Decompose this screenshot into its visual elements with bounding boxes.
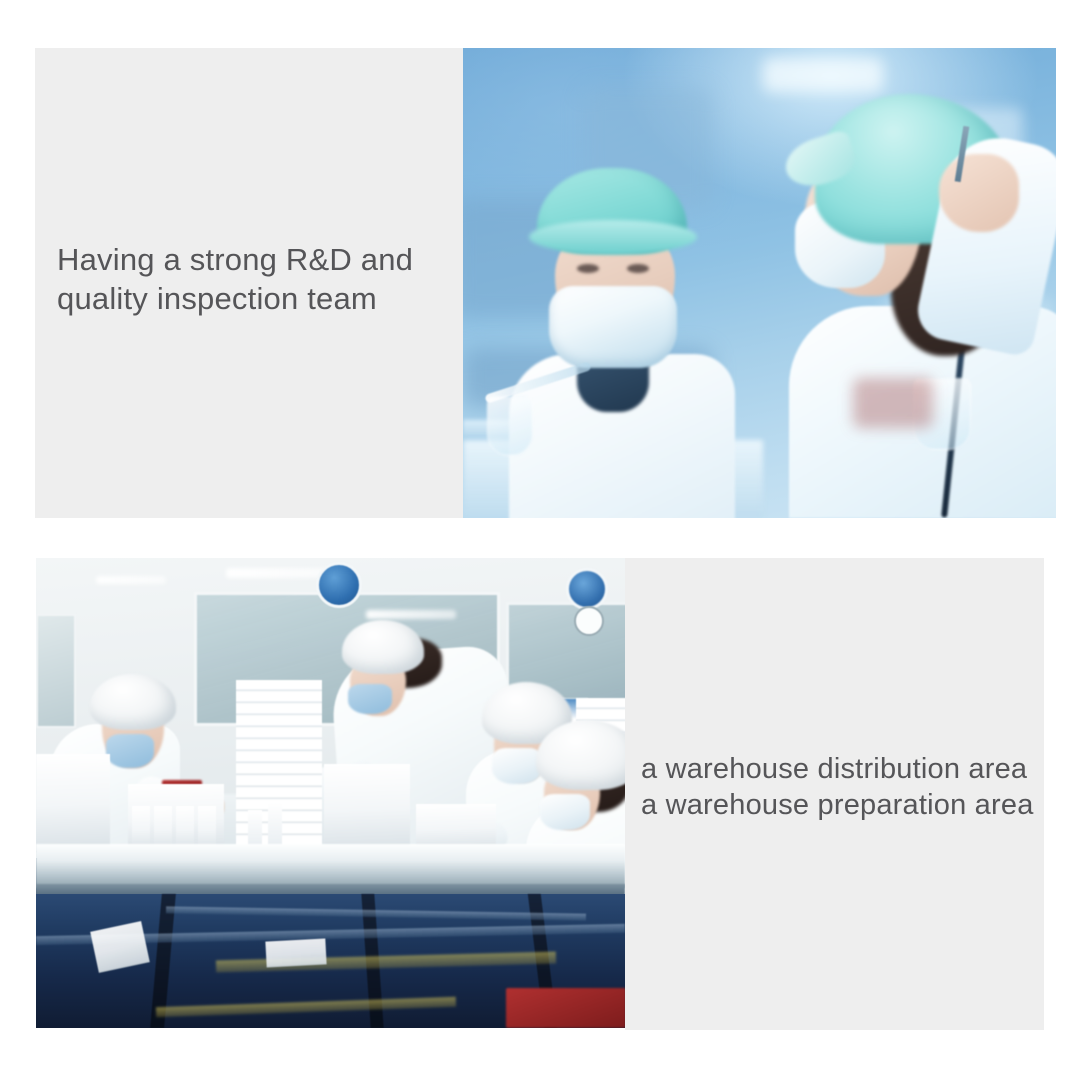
- lab-worker-left: [499, 168, 749, 518]
- rd-quality-caption: Having a strong R&D and quality inspecti…: [57, 240, 413, 318]
- red-crate: [506, 988, 625, 1028]
- worker-2-hairnet: [342, 620, 424, 674]
- worker-1-face-mask: [106, 734, 154, 768]
- lab-red-tray: [853, 378, 933, 428]
- warehouse-packing-photo: [36, 558, 625, 1028]
- stainless-steel-table-top: [36, 844, 625, 888]
- lab-worker-left-eye: [627, 264, 649, 273]
- worker-2-face-mask: [348, 684, 392, 714]
- carton: [36, 754, 110, 852]
- worker-4-hairnet: [536, 720, 625, 790]
- worker-4-face-mask: [540, 794, 590, 830]
- lab-worker-left-face-mask: [549, 286, 677, 368]
- wall-clock-icon: [574, 606, 604, 636]
- worker-3-face-mask: [492, 748, 542, 784]
- blue-circular-sign-icon: [316, 562, 362, 608]
- blue-circular-sign-icon: [566, 568, 608, 610]
- warehouse-caption: a warehouse distribution area a warehous…: [641, 751, 1034, 823]
- carton: [265, 938, 326, 967]
- lab-beaker-icon: [487, 396, 533, 456]
- lab-quality-inspection-photo: [463, 48, 1056, 518]
- carton: [324, 764, 410, 852]
- lab-worker-right: [763, 78, 1056, 518]
- lab-worker-right-hand: [939, 154, 1019, 232]
- lab-worker-left-hairnet-brim: [529, 220, 697, 254]
- lab-worker-left-eye: [577, 264, 599, 273]
- ceiling-light: [96, 576, 166, 584]
- worker-1-hairnet: [90, 674, 176, 730]
